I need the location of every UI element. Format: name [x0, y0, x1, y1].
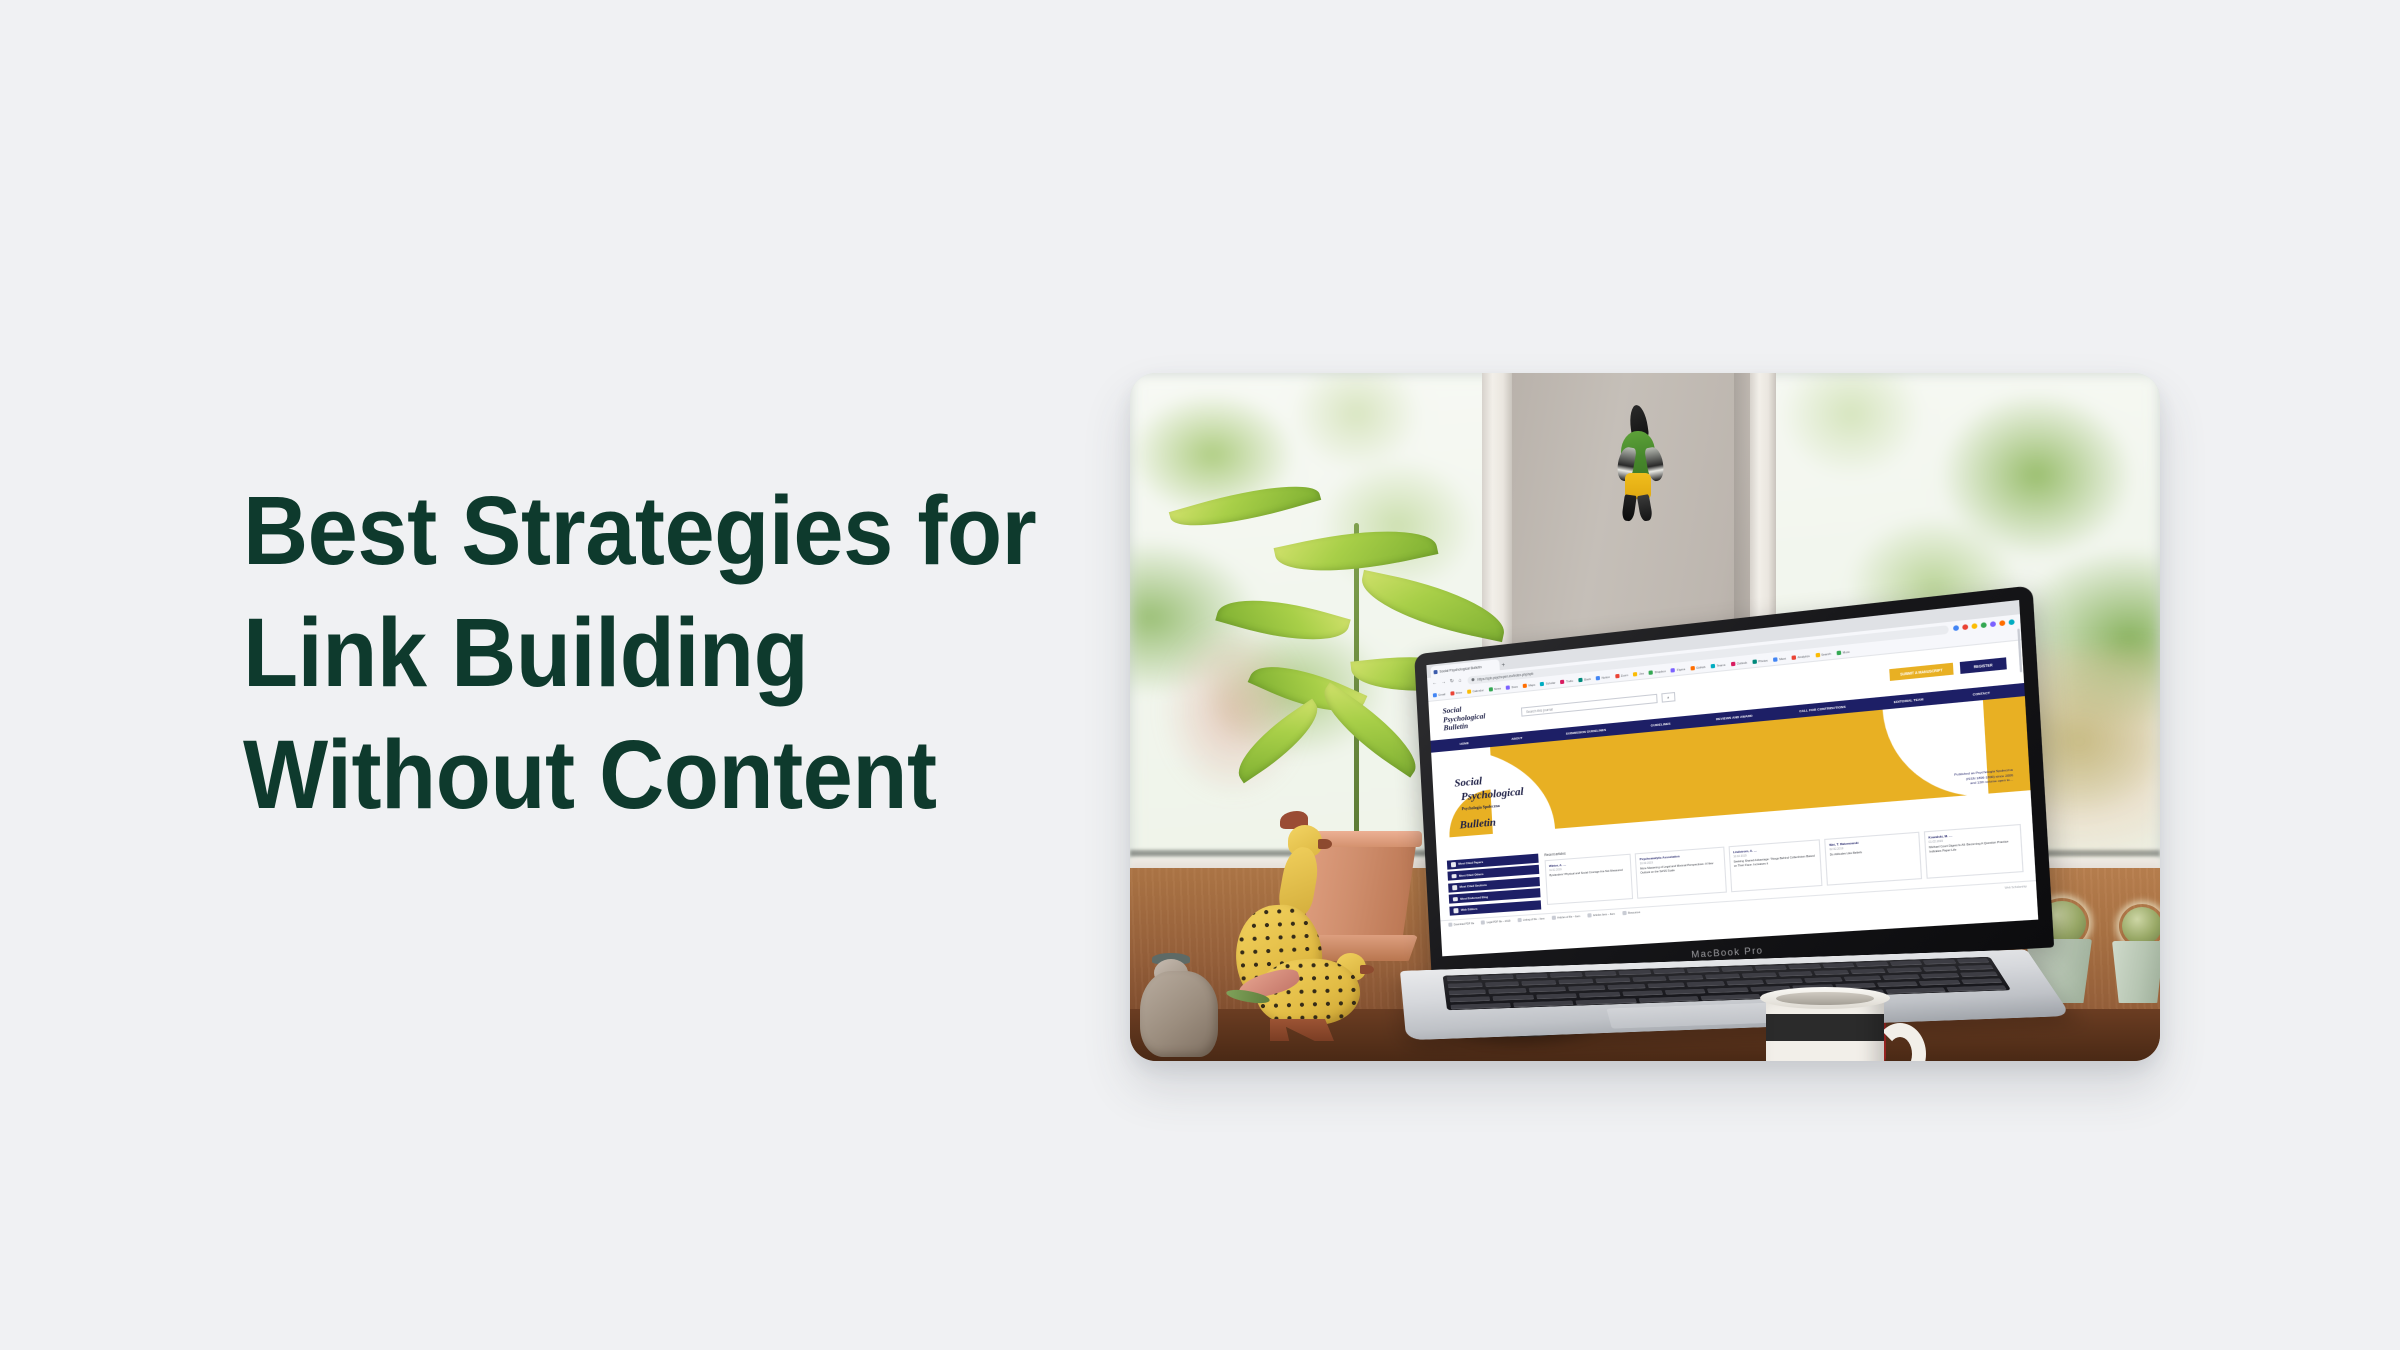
- footer-link-label: Legal PDF file – 2019: [1486, 919, 1510, 924]
- site-nav-item[interactable]: CONTACT: [1973, 690, 1991, 696]
- keyboard-key[interactable]: [1889, 960, 1922, 965]
- stone-figurine: [1140, 971, 1218, 1057]
- bookmark-label: Maps: [1528, 683, 1535, 688]
- keyboard-key[interactable]: [1516, 973, 1548, 978]
- bookmark-item[interactable]: GitHub: [1690, 665, 1705, 671]
- keyboard-key[interactable]: [1788, 964, 1821, 969]
- bookmark-item[interactable]: Teams: [1711, 663, 1726, 669]
- bookmark-item[interactable]: More: [1836, 650, 1849, 656]
- article-card[interactable]: Kowalski, M. …01.02.2019Michael Court Di…: [1923, 824, 2023, 879]
- bookmark-favicon: [1836, 651, 1841, 656]
- article-card[interactable]: Psychoanalytic Association10.02.2019More…: [1635, 846, 1727, 898]
- keyboard-key[interactable]: [1595, 977, 1630, 983]
- bookmark-label: Zoom: [1621, 673, 1629, 678]
- bookmark-item[interactable]: Drive: [1450, 690, 1462, 695]
- favicon: [1433, 669, 1437, 673]
- keyboard-key[interactable]: [1921, 973, 1959, 979]
- bookmark-label: Search: [1821, 652, 1831, 657]
- site-nav-item[interactable]: EDITORIAL TEAM: [1894, 697, 1924, 704]
- bookmark-item[interactable]: Figma: [1671, 667, 1685, 673]
- footer-download-link[interactable]: Listing of file – Item: [1517, 917, 1544, 923]
- page-root: Best Strategies for Link Building Withou…: [0, 0, 2400, 1350]
- browser-window: Social Psychological Bulletin + ← → ↻ ⌂: [1426, 600, 2038, 956]
- keyboard-key[interactable]: [1822, 963, 1855, 968]
- bird-tail-right: [1637, 494, 1653, 522]
- keyboard-key[interactable]: [1576, 998, 1637, 1005]
- site-header-buttons: SUBMIT A MANUSCRIPT REGISTER: [1890, 658, 2007, 682]
- footer-link-label: Articles of file – Item: [1557, 915, 1580, 920]
- document-icon: [1622, 911, 1626, 915]
- page-title: Best Strategies for Link Building Withou…: [243, 470, 1073, 836]
- bookmark-label: Meet: [1779, 656, 1786, 661]
- bookmark-label: News: [1494, 686, 1501, 691]
- footer-download-link[interactable]: Legal PDF file – 2019: [1481, 919, 1511, 925]
- keyboard-key[interactable]: [1618, 970, 1651, 975]
- document-icon: [1448, 923, 1452, 927]
- bookmark-favicon: [1711, 664, 1715, 669]
- bookmark-favicon: [1540, 682, 1544, 686]
- submit-manuscript-button[interactable]: SUBMIT A MANUSCRIPT: [1890, 663, 1954, 681]
- bookmark-item[interactable]: Meet: [1773, 656, 1786, 662]
- document-icon: [1517, 918, 1521, 922]
- bird-ornament: [1617, 405, 1663, 523]
- laptop-brand-label: MacBook Pro: [1691, 945, 1764, 960]
- keyboard-key[interactable]: [1726, 980, 1764, 986]
- bookmark-favicon: [1773, 657, 1778, 662]
- bookmark-favicon: [1649, 670, 1653, 675]
- bookmark-favicon: [1433, 693, 1437, 697]
- bookmark-label: Notion: [1601, 675, 1610, 680]
- side-menu-icon: [1452, 885, 1457, 890]
- bookmark-favicon: [1690, 666, 1694, 671]
- keyboard-key[interactable]: [1632, 976, 1667, 982]
- document-icon: [1481, 921, 1485, 925]
- bookmark-favicon: [1489, 687, 1493, 691]
- keyboard-key[interactable]: [1778, 971, 1813, 976]
- keyboard-key[interactable]: [1956, 958, 1989, 963]
- extension-icon[interactable]: [1962, 624, 1968, 630]
- bookmark-item[interactable]: Scholar: [1540, 681, 1555, 687]
- hero-title: Social Psychological Bulletin: [1453, 756, 1526, 846]
- keyboard-key[interactable]: [1608, 984, 1646, 990]
- keyboard-key[interactable]: [1882, 974, 1920, 980]
- bookmark-item[interactable]: Slack: [1578, 677, 1591, 682]
- keyboard-key[interactable]: [1522, 980, 1557, 986]
- keyboard-key[interactable]: [1449, 989, 1487, 995]
- keyboard-key[interactable]: [1850, 969, 1885, 974]
- bookmark-item[interactable]: Jira: [1633, 671, 1644, 676]
- keyboard-key[interactable]: [1653, 969, 1686, 974]
- keyboard-key[interactable]: [1960, 971, 1998, 977]
- keyboard-key[interactable]: [1668, 975, 1703, 981]
- keyboard-key[interactable]: [1513, 1001, 1574, 1008]
- article-card[interactable]: Lindstrom, A. …10.02.2019Seeking Shared …: [1728, 839, 1822, 892]
- keyboard-key[interactable]: [1741, 972, 1776, 978]
- page-title-line-1: Best Strategies for: [243, 470, 1015, 592]
- bookmark-item[interactable]: Gmail: [1433, 692, 1446, 697]
- footer-link-label: Articles Item – Item: [1593, 912, 1615, 917]
- keyboard-key[interactable]: [1687, 981, 1725, 987]
- chicken-beak-front: [1360, 965, 1374, 974]
- side-menu-label: Web Editors: [1461, 907, 1478, 912]
- keyboard-key[interactable]: [1923, 959, 1956, 964]
- new-tab-button[interactable]: +: [1501, 662, 1505, 670]
- footer-link-label: Download PDF file: [1454, 922, 1475, 926]
- side-menu-label: Most Cited Sections: [1460, 883, 1487, 889]
- keyboard-key[interactable]: [1922, 966, 1958, 971]
- keyboard-key[interactable]: [1485, 981, 1520, 987]
- bookmark-label: Slack: [1584, 677, 1591, 682]
- bookmark-label: Jira: [1639, 671, 1644, 676]
- side-menu-icon: [1452, 874, 1457, 879]
- extension-icon[interactable]: [2009, 619, 2015, 625]
- keyboard-key[interactable]: [1843, 976, 1881, 982]
- bookmark-item[interactable]: Photos: [1752, 658, 1768, 664]
- site-nav-item[interactable]: GUIDELINES: [1651, 721, 1671, 727]
- bookmark-label: Scholar: [1546, 681, 1556, 686]
- bookmark-favicon: [1791, 655, 1796, 660]
- bookmark-favicon: [1815, 653, 1820, 658]
- site-logo[interactable]: Social Psychological Bulletin: [1442, 703, 1486, 733]
- bookmark-item[interactable]: Maps: [1523, 683, 1536, 688]
- bookmark-label: Gmail: [1438, 692, 1445, 697]
- bookmark-favicon: [1560, 680, 1564, 684]
- keyboard-key[interactable]: [1886, 967, 1921, 972]
- browser-tab-title: Social Psychological Bulletin: [1439, 665, 1481, 674]
- bookmark-label: Figma: [1677, 667, 1685, 672]
- reload-icon[interactable]: ↻: [1450, 679, 1455, 685]
- keyboard-key[interactable]: [1550, 972, 1582, 977]
- keyboard-key[interactable]: [1958, 965, 1994, 970]
- bookmark-favicon: [1506, 685, 1510, 689]
- bookmark-label: Drive: [1456, 690, 1463, 695]
- chicken-beak-back: [1318, 839, 1332, 849]
- bookmark-item[interactable]: Zoom: [1615, 673, 1628, 678]
- keyboard-key[interactable]: [1700, 994, 1761, 1001]
- side-menu-icon: [1451, 862, 1456, 867]
- laptop-lid: Social Psychological Bulletin + ← → ↻ ⌂: [1414, 585, 2054, 983]
- sage-pot: [2112, 941, 2160, 1003]
- document-icon: [1587, 914, 1591, 918]
- keyboard-key[interactable]: [1765, 978, 1803, 984]
- keyboard-key[interactable]: [1754, 965, 1787, 970]
- keyboard-key[interactable]: [1559, 979, 1594, 985]
- article-card[interactable]: Winter, A. …11.02.2019Bystanders' Physic…: [1545, 853, 1634, 904]
- bookmark-item[interactable]: Analytics: [1791, 654, 1810, 660]
- side-menu-label: Most Cited Others: [1459, 872, 1484, 878]
- site-side-menu: Most Cited PapersMost Cited OthersMost C…: [1447, 853, 1541, 915]
- footer-download-link[interactable]: Articles Item – Item: [1587, 912, 1615, 918]
- register-button[interactable]: REGISTER: [1959, 658, 2006, 675]
- bookmark-label: Dropbox: [1655, 669, 1666, 674]
- bookmark-label: Calendar: [1472, 688, 1483, 693]
- article-card[interactable]: Wei, T. Ratzmowski02.02.2019Do Attitudes…: [1824, 831, 1921, 885]
- bookmark-item[interactable]: Outlook: [1731, 660, 1747, 666]
- site-nav-item[interactable]: CALL FOR CONTRIBUTIONS: [1799, 704, 1846, 713]
- bookmark-label: Docs: [1511, 685, 1518, 690]
- foliage-warm-glow-left: [1161, 621, 1305, 800]
- keyboard-key[interactable]: [1489, 988, 1527, 994]
- document-icon: [1552, 916, 1556, 920]
- site-search: Search this journal ⌕: [1521, 692, 1676, 717]
- page-title-line-3: Without Content: [243, 714, 1015, 836]
- extension-icon[interactable]: [1990, 621, 1996, 627]
- keyboard-key[interactable]: [1448, 983, 1483, 989]
- hero-photo-card: Social Psychological Bulletin + ← → ↻ ⌂: [1130, 373, 2160, 1061]
- bookmark-item[interactable]: Dropbox: [1649, 669, 1666, 675]
- bird-tail-left: [1621, 494, 1637, 521]
- keyboard-key[interactable]: [1804, 977, 1842, 983]
- bookmark-favicon: [1671, 668, 1675, 673]
- search-icon[interactable]: ⌕: [1661, 692, 1675, 703]
- bookmark-item[interactable]: Docs: [1506, 685, 1518, 690]
- keyboard-key[interactable]: [1451, 1003, 1512, 1010]
- mug-interior: [1776, 992, 1874, 1005]
- bookmark-item[interactable]: News: [1489, 686, 1502, 691]
- bookmark-favicon: [1578, 678, 1582, 683]
- bookmark-item[interactable]: Notion: [1596, 675, 1610, 681]
- bookmark-favicon: [1633, 672, 1637, 677]
- back-icon[interactable]: ←: [1432, 681, 1437, 687]
- home-icon[interactable]: ⌂: [1459, 678, 1464, 684]
- footer-right-label: Web Scholarship: [2005, 885, 2027, 890]
- macbook-pro: Social Psychological Bulletin + ← → ↻ ⌂: [1400, 653, 2040, 1061]
- bookmark-favicon: [1467, 689, 1471, 693]
- bookmark-label: Photos: [1758, 658, 1768, 663]
- laptop-screen: Social Psychological Bulletin + ← → ↻ ⌂: [1426, 600, 2038, 956]
- bookmark-label: More: [1843, 650, 1850, 655]
- bookmark-favicon: [1731, 662, 1736, 667]
- plant-stem: [1354, 523, 1359, 843]
- bookmark-label: Analytics: [1797, 654, 1810, 660]
- footer-link-label: Resources: [1628, 911, 1641, 915]
- footer-download-link[interactable]: Resources: [1622, 910, 1640, 915]
- keyboard-key[interactable]: [1447, 976, 1479, 981]
- bookmark-item[interactable]: Calendar: [1467, 688, 1484, 694]
- keyboard-key[interactable]: [1946, 985, 2007, 992]
- keyboard-key[interactable]: [1705, 974, 1740, 980]
- keyboard-key[interactable]: [1481, 975, 1513, 980]
- bookmark-favicon: [1450, 691, 1454, 695]
- cactus-plant: [2122, 907, 2160, 945]
- bookmark-label: Trello: [1566, 679, 1573, 684]
- extension-icon[interactable]: [1971, 623, 1977, 629]
- keyboard-key[interactable]: [1687, 967, 1720, 972]
- site-nav-item[interactable]: REVIEWS AND AWARD: [1716, 713, 1753, 721]
- bookmark-favicon: [1752, 659, 1757, 664]
- bookmark-label: Outlook: [1737, 660, 1748, 665]
- photo-scene: Social Psychological Bulletin + ← → ↻ ⌂: [1130, 373, 2160, 1061]
- bookmark-label: Teams: [1716, 663, 1725, 668]
- bookmark-label: GitHub: [1696, 665, 1705, 670]
- extension-icon[interactable]: [1999, 620, 2005, 626]
- keyboard-key[interactable]: [1528, 987, 1566, 993]
- hero-title-line-1: Social: [1454, 775, 1482, 790]
- lock-icon: [1471, 678, 1474, 681]
- keyboard-key[interactable]: [1814, 970, 1849, 975]
- extension-icon[interactable]: [1953, 625, 1959, 631]
- bookmark-item[interactable]: Trello: [1560, 679, 1573, 684]
- bookmark-item[interactable]: Search: [1815, 652, 1831, 658]
- footer-download-link[interactable]: Articles of file – Item: [1552, 914, 1581, 920]
- footer-download-link[interactable]: Download PDF file: [1448, 921, 1474, 927]
- bookmark-favicon: [1596, 676, 1600, 681]
- bookmark-favicon: [1523, 684, 1527, 688]
- keyboard-key[interactable]: [1568, 985, 1606, 991]
- keyboard-key[interactable]: [1856, 962, 1889, 967]
- side-menu-icon: [1453, 908, 1458, 913]
- keyboard-key[interactable]: [1721, 966, 1754, 971]
- side-menu-icon: [1453, 897, 1458, 902]
- site-search-input[interactable]: Search this journal: [1521, 694, 1658, 717]
- site-nav-item[interactable]: HOME: [1460, 741, 1469, 746]
- bookmark-favicon: [1615, 674, 1619, 679]
- site-nav-item[interactable]: ABOUT: [1511, 736, 1522, 741]
- forward-icon[interactable]: →: [1441, 680, 1446, 686]
- side-menu-label: Most Cited Papers: [1458, 860, 1483, 866]
- hero-title-line-3: Bulletin: [1456, 813, 1525, 833]
- footer-link-label: Listing of file – Item: [1523, 917, 1545, 921]
- side-menu-label: Most Endorsed Blog: [1460, 895, 1488, 901]
- extension-icon[interactable]: [1981, 622, 1987, 628]
- page-title-line-2: Link Building: [243, 592, 1015, 714]
- keyboard-key[interactable]: [1647, 982, 1685, 988]
- keyboard-key[interactable]: [1638, 996, 1699, 1003]
- site-nav-item[interactable]: SUBMISSION GUIDELINES: [1566, 728, 1607, 736]
- keyboard-key[interactable]: [1584, 971, 1616, 976]
- keyboard-key[interactable]: [1885, 987, 1946, 994]
